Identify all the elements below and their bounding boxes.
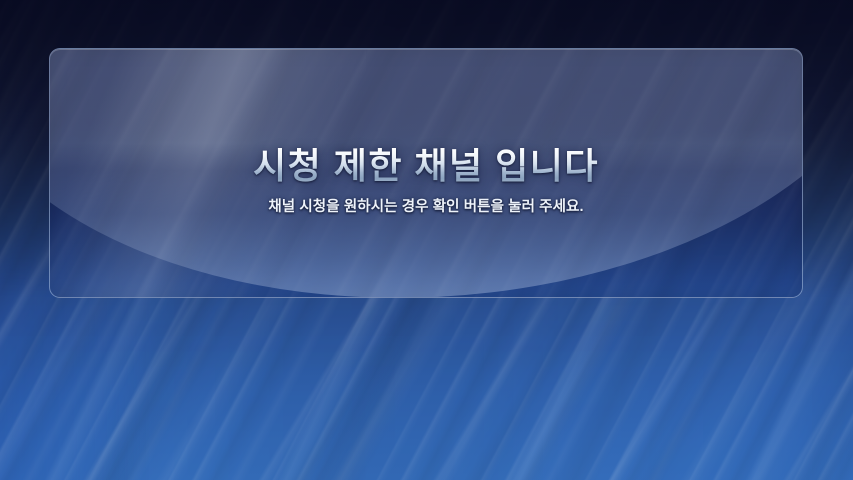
restricted-channel-dialog: 시청 제한 채널 입니다 채널 시청을 원하시는 경우 확인 버튼을 눌러 주세… bbox=[49, 48, 803, 298]
dialog-title: 시청 제한 채널 입니다 bbox=[253, 148, 599, 184]
tv-screen: 시청 제한 채널 입니다 채널 시청을 원하시는 경우 확인 버튼을 눌러 주세… bbox=[0, 0, 853, 480]
dialog-content: 시청 제한 채널 입니다 채널 시청을 원하시는 경우 확인 버튼을 눌러 주세… bbox=[50, 49, 802, 297]
dialog-subtitle: 채널 시청을 원하시는 경우 확인 버튼을 눌러 주세요. bbox=[268, 195, 583, 216]
